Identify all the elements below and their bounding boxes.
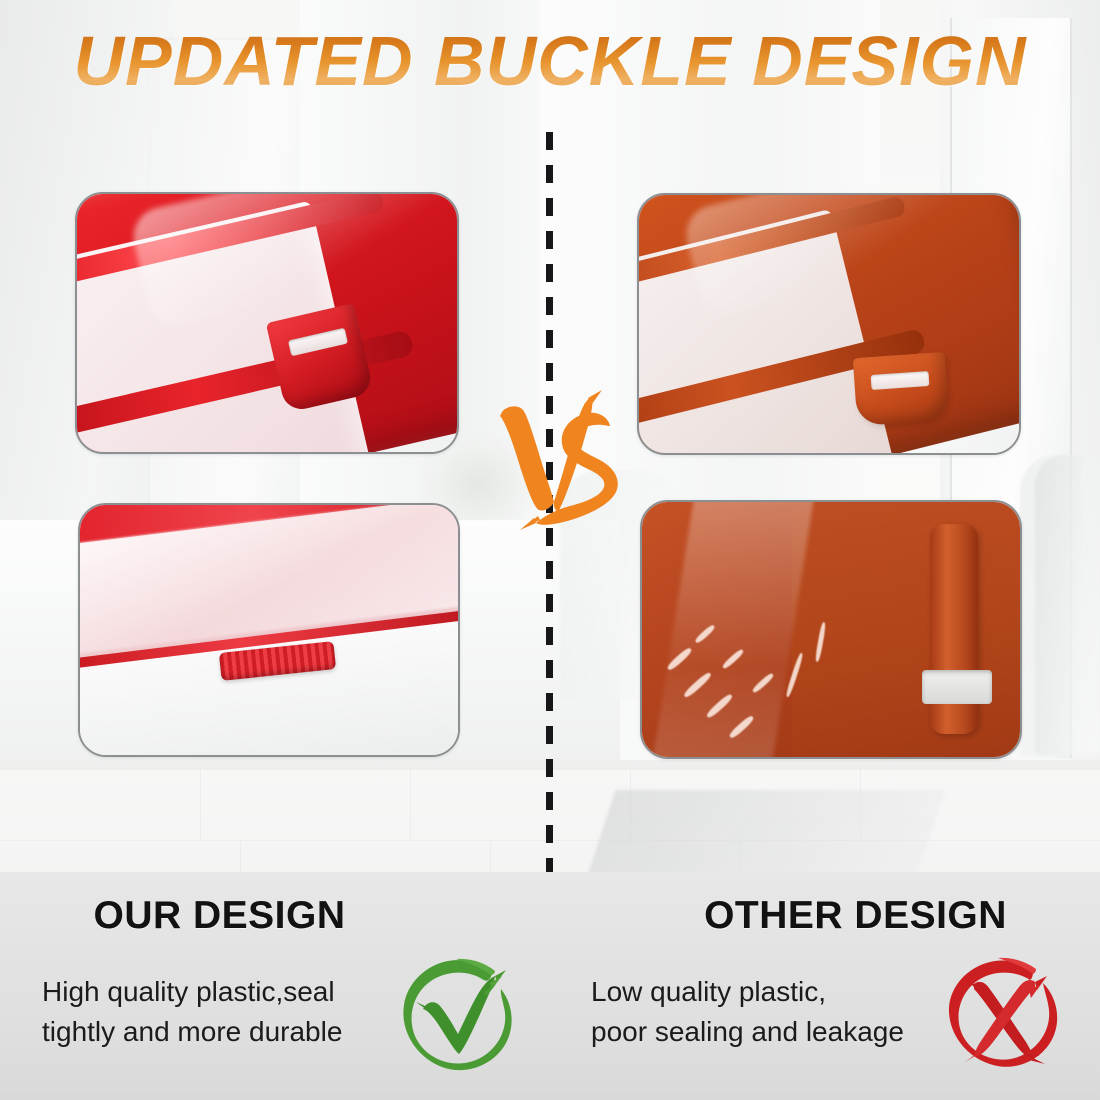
cross-mark-icon — [941, 954, 1065, 1078]
background-rug — [585, 790, 946, 885]
background-chair-right-back — [1035, 455, 1081, 755]
photo-panel-our-sealed-box — [78, 503, 460, 757]
product-photo-white-box-latch — [80, 505, 458, 755]
page-title: UPDATED BUCKLE DESIGN — [0, 26, 1100, 96]
other-design-description: Low quality plastic, poor sealing and le… — [591, 972, 941, 1052]
floor-tile — [200, 770, 411, 841]
our-design-heading: OUR DESIGN — [0, 894, 494, 938]
versus-badge — [492, 390, 622, 530]
buckle-gap — [922, 670, 992, 704]
comparison-other-design: OTHER DESIGN Low quality plastic, poor s… — [551, 872, 1100, 1100]
other-design-heading: OTHER DESIGN — [581, 894, 1100, 938]
floor-tile — [0, 770, 201, 841]
floor-tile — [410, 770, 631, 841]
our-design-description: High quality plastic,seal tightly and mo… — [42, 972, 372, 1052]
check-mark-icon — [396, 954, 520, 1078]
photo-panel-other-buckle-closeup — [637, 193, 1021, 455]
product-photo-red-lid-corner — [77, 194, 457, 452]
photo-panel-other-cracked-lid — [640, 500, 1022, 759]
detached-buckle-tab — [853, 352, 950, 426]
infographic-canvas: UPDATED BUCKLE DESIGN — [0, 0, 1100, 1100]
comparison-bar: OUR DESIGN High quality plastic,seal tig… — [0, 872, 1100, 1100]
product-photo-orange-lid-corner — [639, 195, 1019, 453]
orange-lid-face — [792, 502, 1020, 757]
product-photo-cracked-orange-lid — [642, 502, 1020, 757]
comparison-our-design: OUR DESIGN High quality plastic,seal tig… — [0, 872, 549, 1100]
photo-panel-our-buckle-closeup — [75, 192, 459, 454]
